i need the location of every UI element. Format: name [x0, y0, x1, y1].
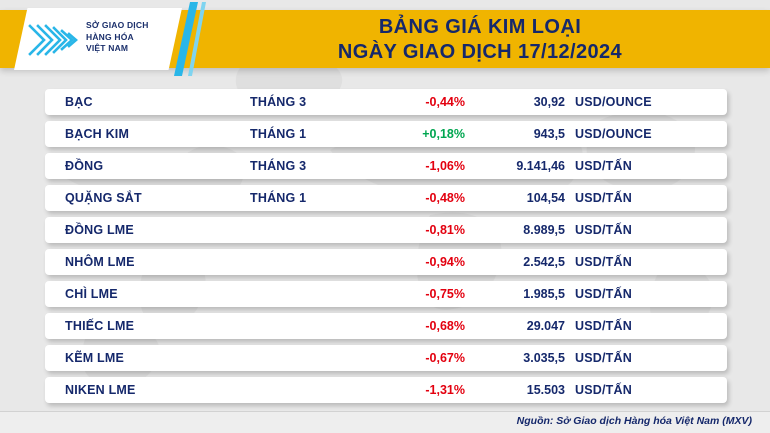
table-row[interactable]: NHÔM LME-0,94%2.542,5USD/TẤN: [45, 249, 727, 275]
price-change-percent: -0,75%: [335, 287, 465, 301]
logo-card: SỞ GIAO DỊCH HÀNG HÓA VIỆT NAM: [14, 8, 182, 70]
price-value: 2.542,5: [465, 255, 565, 269]
source-attribution: Nguồn: Sở Giao dịch Hàng hóa Việt Nam (M…: [517, 415, 752, 427]
contract-month: THÁNG 3: [250, 159, 306, 173]
metal-price-board: SỞ GIAO DỊCH HÀNG HÓA VIỆT NAM BẢNG GIÁ …: [0, 0, 770, 433]
price-value: 3.035,5: [465, 351, 565, 365]
price-change-percent: -0,68%: [335, 319, 465, 333]
price-value: 30,92: [465, 95, 565, 109]
title-line-1: BẢNG GIÁ KIM LOẠI: [379, 15, 581, 40]
price-change-percent: -0,44%: [335, 95, 465, 109]
price-value: 8.989,5: [465, 223, 565, 237]
price-value: 1.985,5: [465, 287, 565, 301]
contract-month: THÁNG 1: [250, 191, 306, 205]
price-change-percent: -0,81%: [335, 223, 465, 237]
footer-bar: Nguồn: Sở Giao dịch Hàng hóa Việt Nam (M…: [0, 411, 770, 433]
table-row[interactable]: ĐỒNG LME-0,81%8.989,5USD/TẤN: [45, 217, 727, 243]
price-unit: USD/OUNCE: [575, 127, 652, 141]
price-value: 15.503: [465, 383, 565, 397]
table-row[interactable]: BẠCTHÁNG 3-0,44%30,92USD/OUNCE: [45, 89, 727, 115]
price-unit: USD/TẤN: [575, 383, 632, 397]
commodity-name: ĐỒNG LME: [65, 223, 134, 237]
commodity-name: NIKEN LME: [65, 383, 136, 397]
commodity-name: ĐỒNG: [65, 159, 103, 173]
price-change-percent: -1,06%: [335, 159, 465, 173]
title-line-2: NGÀY GIAO DỊCH 17/12/2024: [338, 40, 622, 65]
price-change-percent: -0,67%: [335, 351, 465, 365]
maze-chevron-logo-icon: [28, 22, 80, 58]
table-row[interactable]: BẠCH KIMTHÁNG 1+0,18%943,5USD/OUNCE: [45, 121, 727, 147]
price-change-percent: -1,31%: [335, 383, 465, 397]
price-value: 9.141,46: [465, 159, 565, 173]
logo-text: SỞ GIAO DỊCH HÀNG HÓA VIỆT NAM: [86, 20, 149, 55]
commodity-name: NHÔM LME: [65, 255, 135, 269]
page-title: BẢNG GIÁ KIM LOẠI NGÀY GIAO DỊCH 17/12/2…: [200, 12, 760, 68]
table-row[interactable]: QUẶNG SẮTTHÁNG 1-0,48%104,54USD/TẤN: [45, 185, 727, 211]
contract-month: THÁNG 3: [250, 95, 306, 109]
price-unit: USD/TẤN: [575, 191, 632, 205]
commodity-name: CHÌ LME: [65, 287, 118, 301]
price-change-percent: -0,48%: [335, 191, 465, 205]
price-value: 104,54: [465, 191, 565, 205]
table-row[interactable]: NIKEN LME-1,31%15.503USD/TẤN: [45, 377, 727, 403]
table-row[interactable]: THIẾC LME-0,68%29.047USD/TẤN: [45, 313, 727, 339]
price-change-percent: -0,94%: [335, 255, 465, 269]
commodity-name: BẠC: [65, 95, 93, 109]
contract-month: THÁNG 1: [250, 127, 306, 141]
price-unit: USD/TẤN: [575, 351, 632, 365]
price-unit: USD/TẤN: [575, 159, 632, 173]
price-unit: USD/TẤN: [575, 319, 632, 333]
commodity-name: KẼM LME: [65, 351, 124, 365]
price-table: BẠCTHÁNG 3-0,44%30,92USD/OUNCEBẠCH KIMTH…: [45, 89, 727, 409]
table-row[interactable]: CHÌ LME-0,75%1.985,5USD/TẤN: [45, 281, 727, 307]
price-unit: USD/TẤN: [575, 223, 632, 237]
price-value: 29.047: [465, 319, 565, 333]
price-unit: USD/TẤN: [575, 255, 632, 269]
price-unit: USD/TẤN: [575, 287, 632, 301]
price-unit: USD/OUNCE: [575, 95, 652, 109]
table-row[interactable]: KẼM LME-0,67%3.035,5USD/TẤN: [45, 345, 727, 371]
table-row[interactable]: ĐỒNGTHÁNG 3-1,06%9.141,46USD/TẤN: [45, 153, 727, 179]
price-value: 943,5: [465, 127, 565, 141]
commodity-name: QUẶNG SẮT: [65, 191, 142, 205]
commodity-name: BẠCH KIM: [65, 127, 129, 141]
price-change-percent: +0,18%: [335, 127, 465, 141]
commodity-name: THIẾC LME: [65, 319, 134, 333]
